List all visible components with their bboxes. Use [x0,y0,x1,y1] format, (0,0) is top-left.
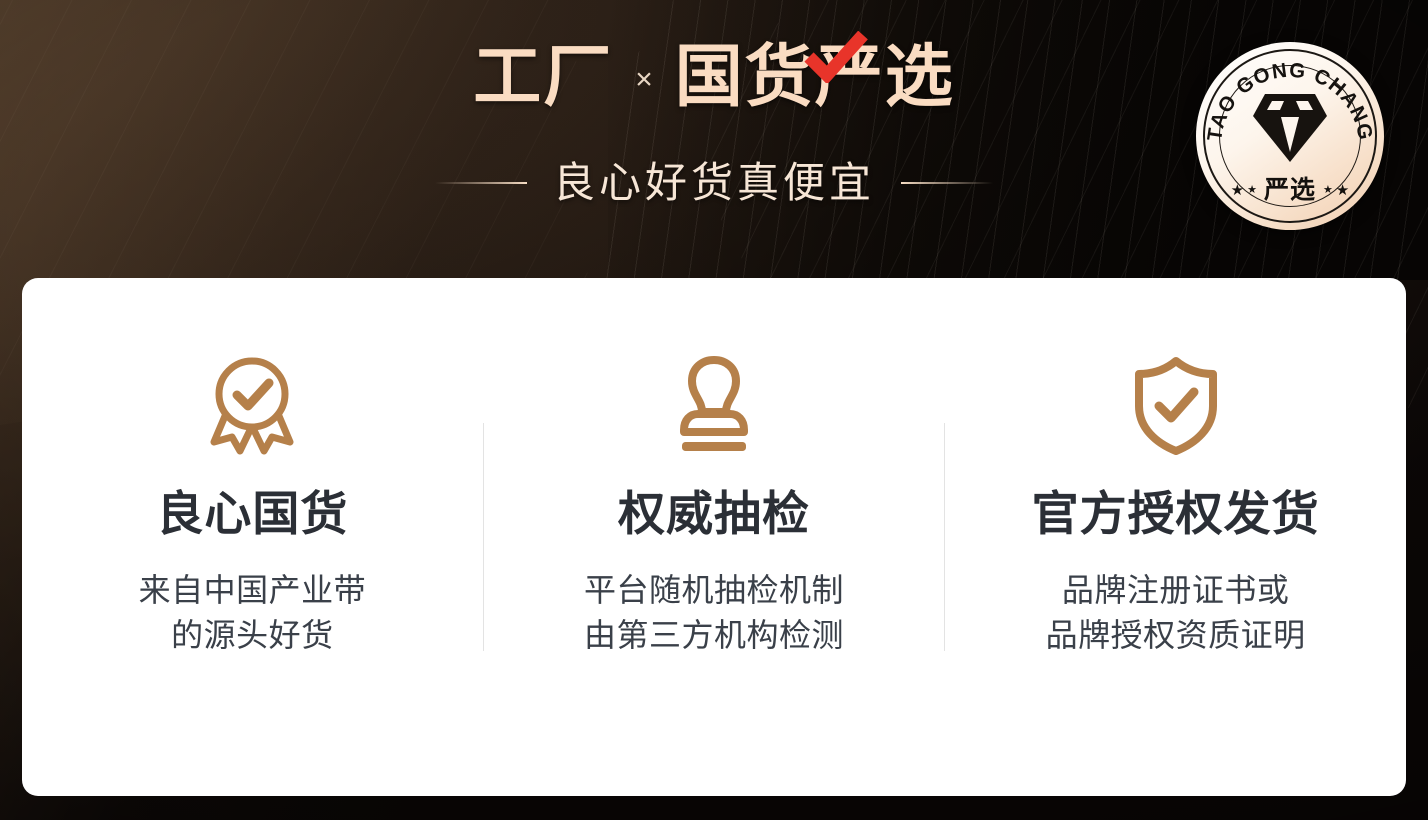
feature-title: 官方授权发货 [1032,488,1320,540]
seal-stars-right: ★ ★ [1323,183,1349,198]
feature-item-guanfang-shouquan: 官方授权发货 品牌注册证书或 品牌授权资质证明 [945,278,1406,796]
star-icon: ★ [1323,185,1333,196]
feature-title: 权威抽检 [618,488,810,540]
seal-badge: TAO GONG CHANG ★ ★ 严选 ★ ★ [1196,42,1384,230]
feature-description-line: 来自中国产业带 [139,568,367,613]
banner-header: 工厂 × 国货严选 良心好货真便宜 TAO GONG [0,0,1428,278]
dash-right-icon [901,182,993,184]
feature-description: 平台随机抽检机制 由第三方机构检测 [584,568,844,659]
dash-left-icon [435,182,527,184]
seal-stars-left: ★ ★ [1231,183,1257,198]
feature-description-line: 品牌注册证书或 [1046,568,1306,613]
headline-separator: × [635,63,653,97]
star-icon: ★ [1231,183,1244,198]
feature-title: 良心国货 [156,488,348,540]
feature-description: 来自中国产业带 的源头好货 [139,568,367,659]
seal-bottom-row: ★ ★ 严选 ★ ★ [1196,178,1384,203]
feature-item-quanwei-choujian: 权威抽检 平台随机抽检机制 由第三方机构检测 [484,278,945,796]
diamond-icon [1251,90,1329,164]
feature-description-line: 由第三方机构检测 [584,613,844,658]
headline-factory: 工厂 [473,43,613,111]
feature-description-line: 品牌授权资质证明 [1046,613,1306,658]
banner-root: 工厂 × 国货严选 良心好货真便宜 TAO GONG [0,0,1428,820]
feature-description-line: 平台随机抽检机制 [584,568,844,613]
seal-bottom-label: 严选 [1264,178,1316,203]
star-icon: ★ [1336,183,1349,198]
subtitle-text: 良心好货真便宜 [553,162,875,204]
headline-brand: 国货严选 [675,39,955,115]
features-card: 良心国货 来自中国产业带 的源头好货 权威抽检 平台随机抽检机制 由第三方机构检… [22,278,1406,796]
feature-item-liangxin-guohuo: 良心国货 来自中国产业带 的源头好货 [22,278,483,796]
headline-brand-wrap: 国货严选 [675,43,955,111]
feature-description-line: 的源头好货 [139,613,367,658]
star-icon: ★ [1247,185,1257,196]
award-check-icon [202,354,302,456]
shield-check-icon [1126,354,1226,456]
feature-description: 品牌注册证书或 品牌授权资质证明 [1046,568,1306,659]
stamp-icon [666,354,762,456]
